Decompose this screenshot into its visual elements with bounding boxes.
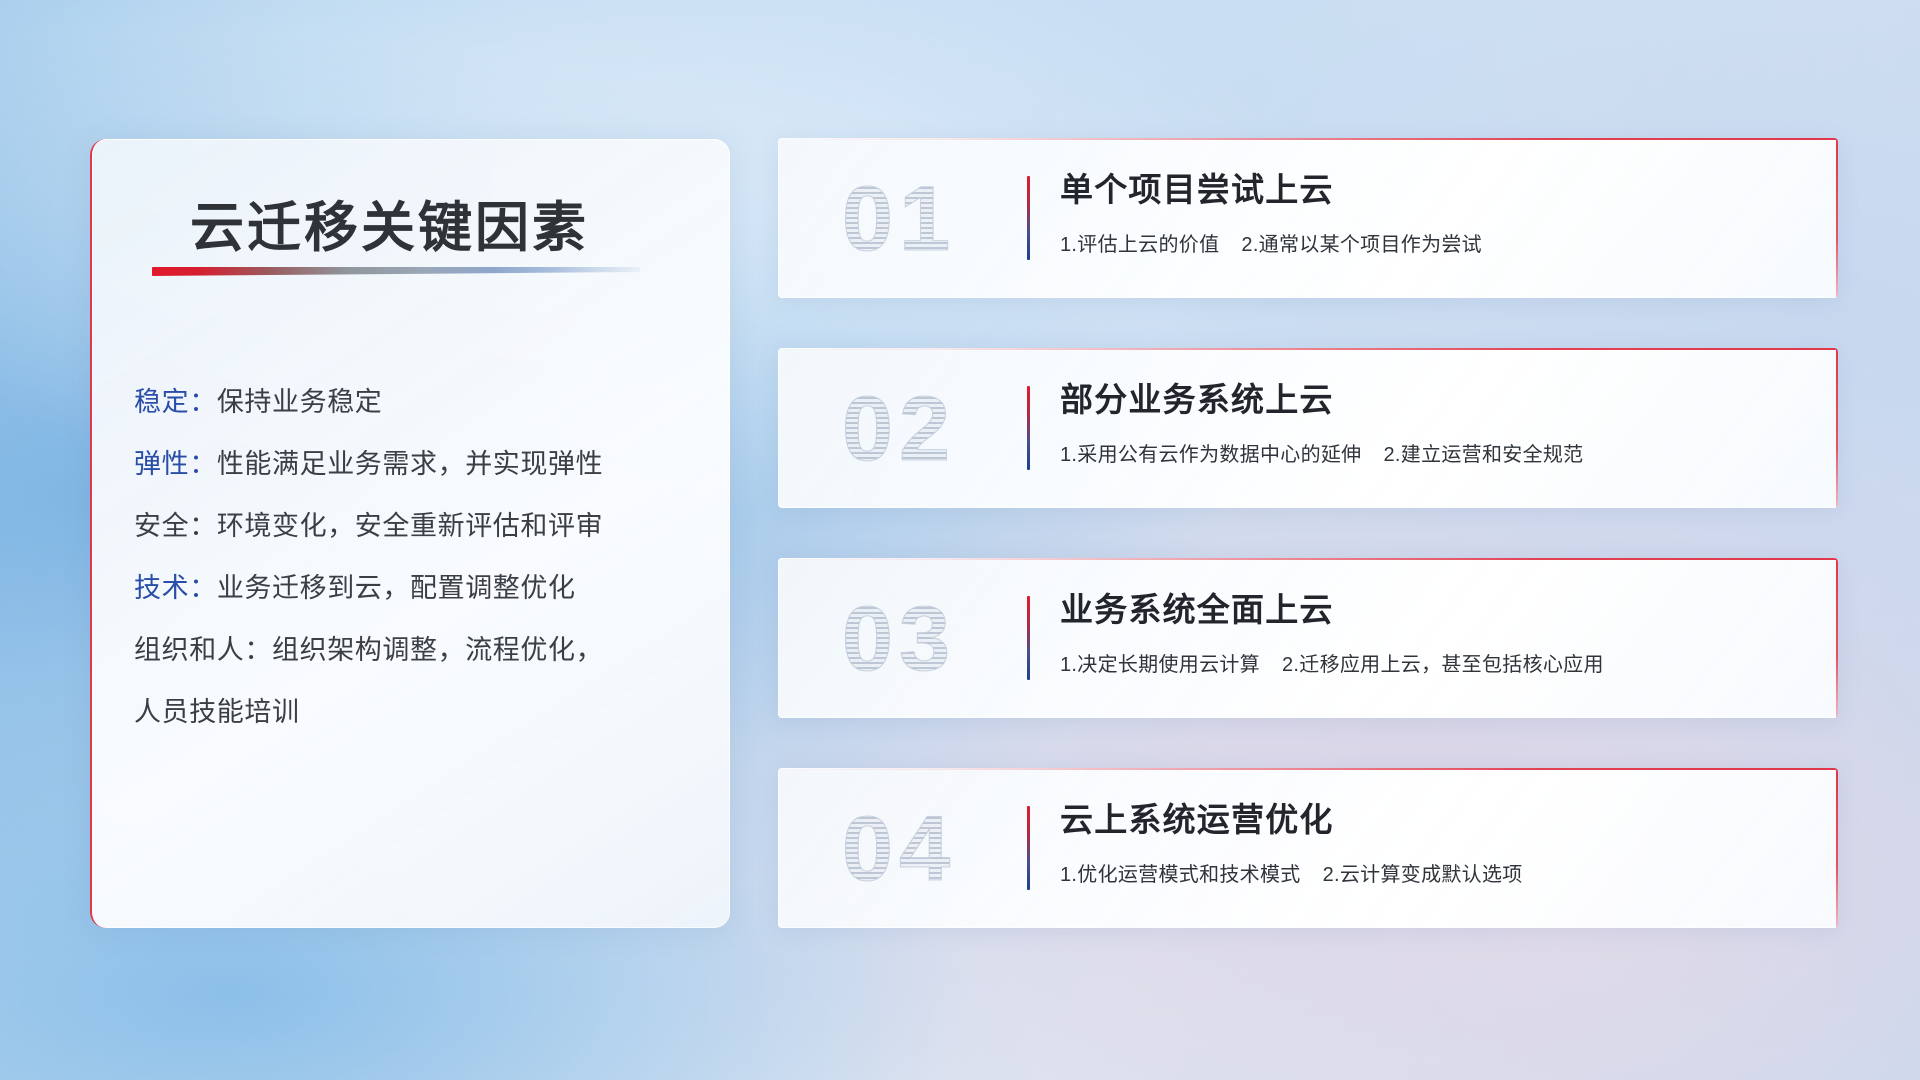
stage-point: 2.建立运营和安全规范 [1383, 444, 1583, 466]
factor-label: 稳定： [134, 387, 217, 417]
stage-accent-divider [1027, 596, 1030, 680]
stage-number-glow: 01 [804, 154, 994, 284]
stage-title: 云上系统运营优化 [1060, 796, 1814, 844]
factor-label: 技术： [134, 573, 217, 603]
key-factors-panel: 云迁移关键因素 稳定：保持业务稳定弹性：性能满足业务需求，并实现弹性安全：环境变… [90, 139, 730, 928]
stage-accent-divider [1027, 806, 1030, 890]
factor-list: 稳定：保持业务稳定弹性：性能满足业务需求，并实现弹性安全：环境变化，安全重新评估… [134, 371, 694, 743]
stage-card-body: 部分业务系统上云1.采用公有云作为数据中心的延伸2.建立运营和安全规范 [1060, 376, 1814, 467]
factor-row: 组织和人：组织架构调整，流程优化， [134, 619, 694, 681]
factor-text: 业务迁移到云，配置调整优化 [217, 573, 576, 603]
stage-card[interactable]: 0202部分业务系统上云1.采用公有云作为数据中心的延伸2.建立运营和安全规范 [778, 348, 1838, 508]
stage-card-body: 云上系统运营优化1.优化运营模式和技术模式2.云计算变成默认选项 [1060, 796, 1814, 887]
stage-description: 1.决定长期使用云计算2.迁移应用上云，甚至包括核心应用 [1060, 648, 1814, 677]
stage-point: 1.优化运营模式和技术模式 [1060, 864, 1301, 886]
slide-canvas: 云迁移关键因素 稳定：保持业务稳定弹性：性能满足业务需求，并实现弹性安全：环境变… [0, 0, 1920, 1080]
stage-number-glow: 03 [804, 574, 994, 704]
stage-card-list: 0101单个项目尝试上云1.评估上云的价值2.通常以某个项目作为尝试0202部分… [778, 138, 1838, 928]
stage-point: 1.评估上云的价值 [1060, 234, 1219, 256]
stage-card[interactable]: 0303业务系统全面上云1.决定长期使用云计算2.迁移应用上云，甚至包括核心应用 [778, 558, 1838, 718]
stage-number-watermark: 01 [804, 154, 994, 284]
stage-description: 1.采用公有云作为数据中心的延伸2.建立运营和安全规范 [1060, 438, 1814, 467]
stage-point: 1.决定长期使用云计算 [1060, 654, 1260, 676]
stage-card-body: 单个项目尝试上云1.评估上云的价值2.通常以某个项目作为尝试 [1060, 166, 1814, 257]
factor-label: 弹性： [134, 449, 217, 479]
stage-accent-divider [1027, 176, 1030, 260]
stage-title: 部分业务系统上云 [1060, 376, 1814, 424]
stage-number-glow: 04 [804, 784, 994, 914]
factor-text: 组织架构调整，流程优化， [272, 635, 603, 665]
stage-point: 1.采用公有云作为数据中心的延伸 [1060, 444, 1361, 466]
stage-accent-divider [1027, 386, 1030, 470]
stage-number-text: 04 [842, 797, 956, 902]
stage-description: 1.优化运营模式和技术模式2.云计算变成默认选项 [1060, 858, 1814, 887]
stage-number-watermark: 03 [804, 574, 994, 704]
stage-number-watermark: 02 [804, 364, 994, 494]
stage-card-body: 业务系统全面上云1.决定长期使用云计算2.迁移应用上云，甚至包括核心应用 [1060, 586, 1814, 677]
factor-row: 技术：业务迁移到云，配置调整优化 [134, 557, 694, 619]
stage-number-watermark: 04 [804, 784, 994, 914]
stage-title: 业务系统全面上云 [1060, 586, 1814, 634]
stage-number-text: 03 [842, 587, 956, 692]
stage-description: 1.评估上云的价值2.通常以某个项目作为尝试 [1060, 228, 1814, 257]
stage-number-text: 01 [842, 167, 956, 272]
factor-row: 稳定：保持业务稳定 [134, 371, 694, 433]
stage-title: 单个项目尝试上云 [1060, 166, 1814, 214]
title-underline-accent [152, 267, 640, 276]
factor-row: 人员技能培训 [134, 681, 694, 743]
stage-card[interactable]: 0101单个项目尝试上云1.评估上云的价值2.通常以某个项目作为尝试 [778, 138, 1838, 298]
factor-label: 安全： [134, 511, 217, 541]
factor-text: 人员技能培训 [134, 697, 300, 727]
stage-point: 2.通常以某个项目作为尝试 [1241, 234, 1482, 256]
stage-card[interactable]: 0404云上系统运营优化1.优化运营模式和技术模式2.云计算变成默认选项 [778, 768, 1838, 928]
stage-point: 2.云计算变成默认选项 [1323, 864, 1523, 886]
stage-number-glow: 02 [804, 364, 994, 494]
stage-number-text: 02 [842, 377, 956, 482]
page-title: 云迁移关键因素 [190, 183, 589, 262]
factor-text: 保持业务稳定 [217, 387, 383, 417]
factor-text: 环境变化，安全重新评估和评审 [217, 511, 603, 541]
factor-row: 弹性：性能满足业务需求，并实现弹性 [134, 433, 694, 495]
stage-point: 2.迁移应用上云，甚至包括核心应用 [1282, 654, 1604, 676]
factor-row: 安全：环境变化，安全重新评估和评审 [134, 495, 694, 557]
factor-text: 性能满足业务需求，并实现弹性 [217, 449, 603, 479]
factor-label: 组织和人： [134, 635, 272, 665]
